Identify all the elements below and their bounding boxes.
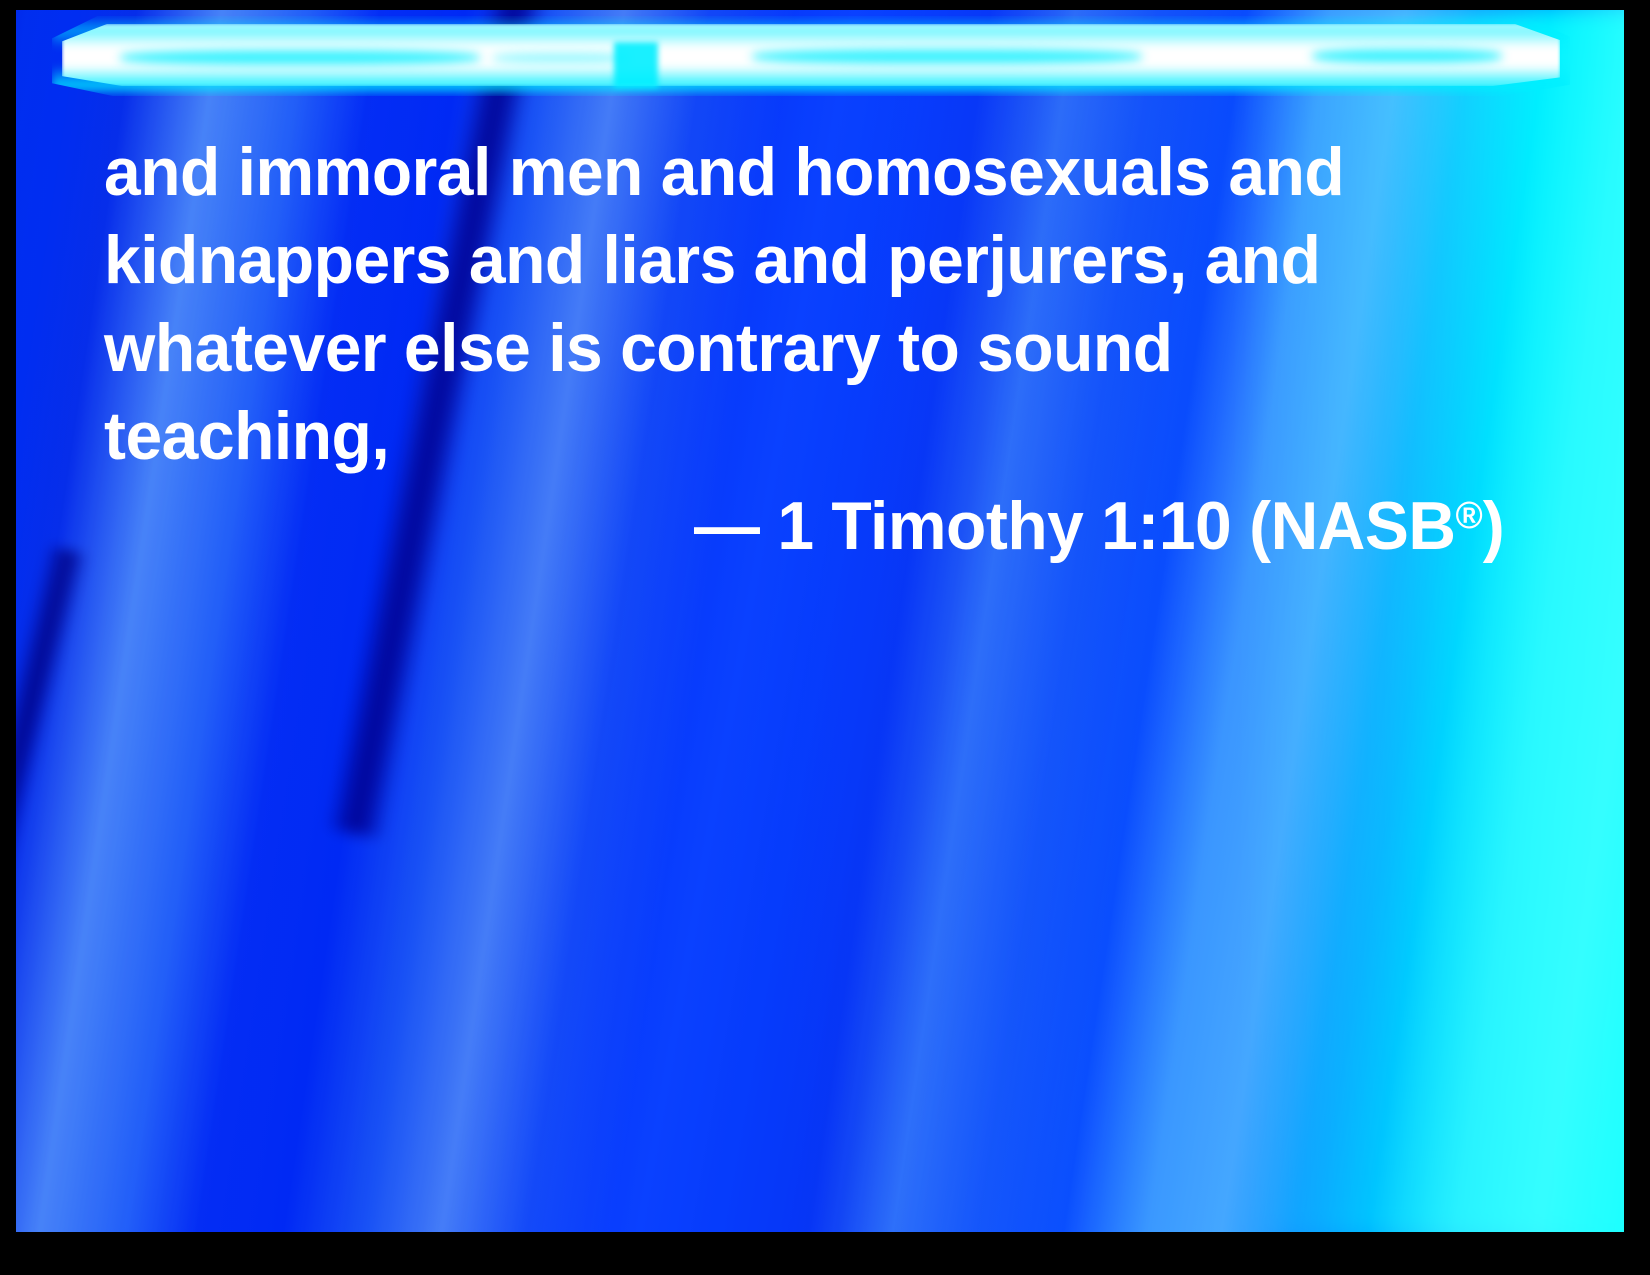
verse-citation: — 1 Timothy 1:10 (NASB®) bbox=[694, 472, 1504, 570]
verse-line-1: and immoral men and homosexuals and bbox=[104, 128, 1481, 216]
verse-line-3: whatever else is contrary to sound bbox=[104, 304, 1481, 392]
citation-em-dash: — bbox=[694, 488, 777, 564]
slide-canvas: and immoral men and homosexuals and kidn… bbox=[16, 10, 1624, 1232]
citation-closing-paren: ) bbox=[1483, 488, 1504, 564]
verse-text-block: and immoral men and homosexuals and kidn… bbox=[104, 128, 1524, 480]
slide-frame: and immoral men and homosexuals and kidn… bbox=[0, 0, 1650, 1275]
citation-row: — 1 Timothy 1:10 (NASB®) bbox=[104, 472, 1504, 570]
verse-line-4: teaching, bbox=[104, 392, 1481, 480]
verse-line-2: kidnappers and liars and perjurers, and bbox=[104, 216, 1481, 304]
registered-trademark-icon: ® bbox=[1455, 495, 1482, 537]
citation-reference: 1 Timothy 1:10 (NASB bbox=[777, 488, 1455, 564]
